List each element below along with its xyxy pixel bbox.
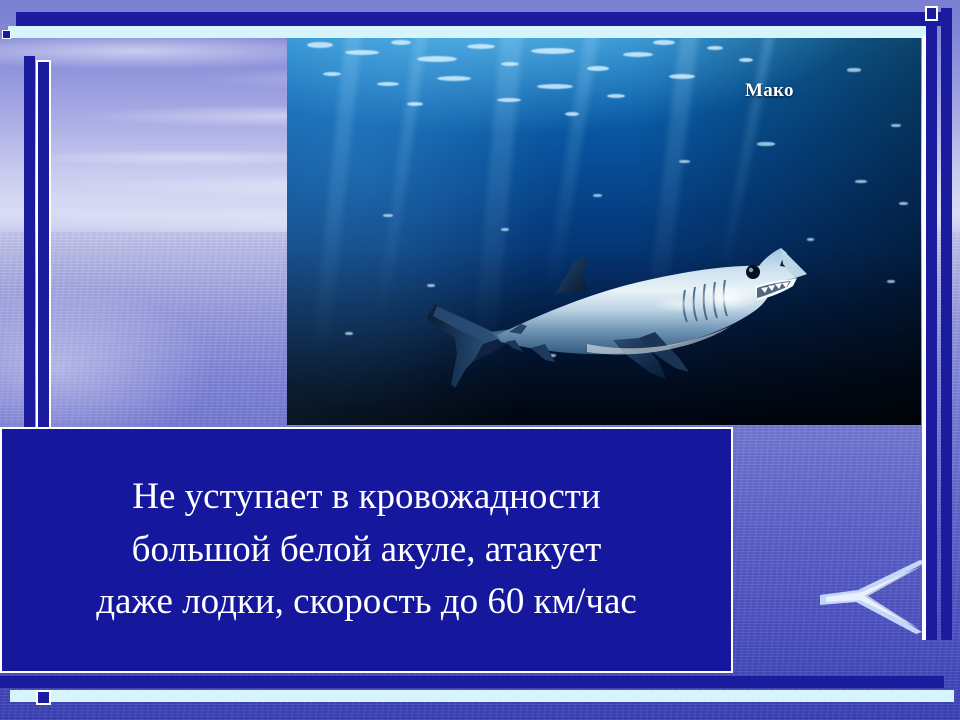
mako-shark-photo (287, 32, 921, 425)
bottom-navy-bar (0, 676, 944, 688)
shark-illustration (287, 32, 921, 425)
top-left-square-decoration (2, 30, 11, 39)
right-outer-vertical-bar (941, 8, 952, 640)
left-inner-vertical-bar (38, 62, 49, 433)
photo-label-mako: Мако (745, 80, 794, 102)
caption-box: Не уступает в кровожадности большой бело… (0, 427, 733, 673)
right-inner-vertical-bar (926, 14, 937, 640)
top-right-square-decoration (925, 6, 938, 21)
top-pale-bar (8, 26, 936, 38)
top-navy-bar (16, 12, 944, 26)
left-outer-vertical-bar (24, 56, 35, 433)
slide-canvas: Мако Не уступает в кровожадности большой… (0, 0, 960, 720)
bottom-pale-bar (10, 690, 954, 702)
bottom-left-square-decoration (36, 690, 51, 705)
caption-text: Не уступает в кровожадности большой бело… (86, 471, 647, 629)
